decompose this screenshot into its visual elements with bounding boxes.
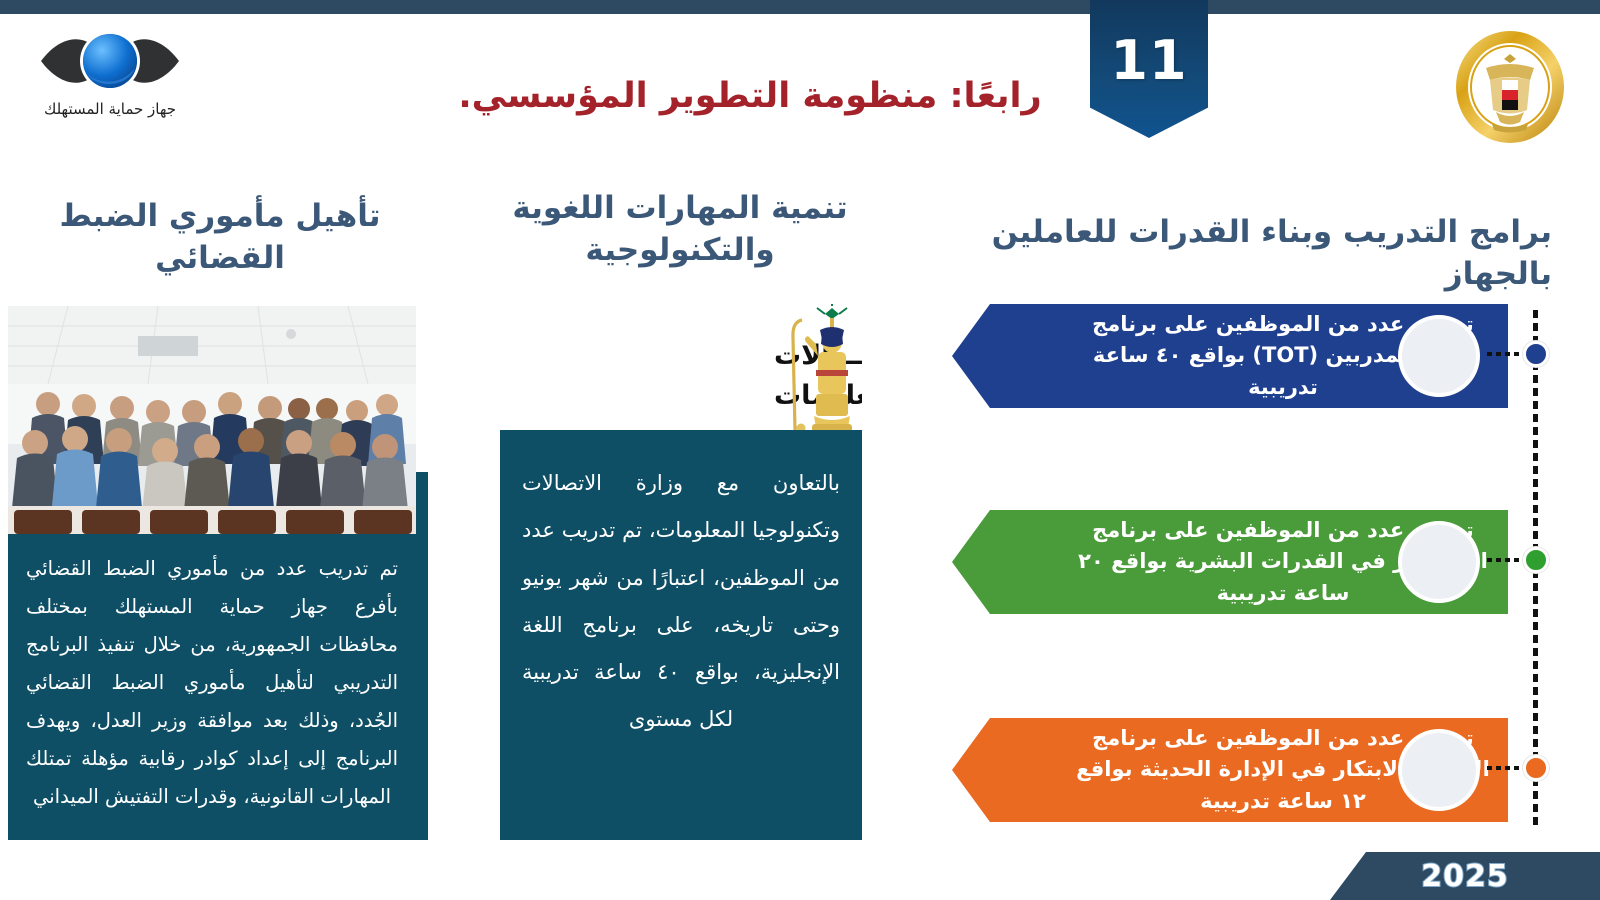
training-item-3-circle <box>1398 729 1480 811</box>
training-group-photo <box>8 306 416 534</box>
left-accent-bar <box>416 472 428 840</box>
timeline-connector-1 <box>1487 352 1523 356</box>
left-body-text: تم تدريب عدد من مأموري الضبط القضائي بأف… <box>26 550 398 816</box>
footer-year-text: 2025 <box>1421 859 1509 894</box>
left-text-panel: تم تدريب عدد من مأموري الضبط القضائي بأف… <box>8 534 416 840</box>
left-column-heading: تأهيل مأموري الضبط القضائي <box>10 196 430 280</box>
training-item-1-circle <box>1398 315 1480 397</box>
training-item-3[interactable]: تدريب عدد من الموظفين على برنامج الإبداع… <box>952 718 1508 822</box>
slide-canvas: 11 جهاز حماية المستهلك <box>0 0 1600 900</box>
eye-logo-icon <box>35 28 185 94</box>
timeline-connector-2 <box>1487 558 1523 562</box>
egypt-cabinet-seal-icon <box>1452 28 1568 146</box>
middle-column-heading: تنمية المهارات اللغوية والتكنولوجية <box>490 188 870 272</box>
training-item-2-circle <box>1398 521 1480 603</box>
timeline-connector-3 <box>1487 766 1523 770</box>
middle-body-text: بالتعاون مع وزارة الاتصالات وتكنولوجيا ا… <box>522 460 840 744</box>
training-item-2[interactable]: تدريب عدد من الموظفين على برنامج الاستثم… <box>952 510 1508 614</box>
agency-logo: جهاز حماية المستهلك <box>20 28 200 138</box>
timeline-node-1[interactable] <box>1523 341 1549 367</box>
agency-name: جهاز حماية المستهلك <box>44 100 176 118</box>
right-column-heading: برامج التدريب وبناء القدرات للعاملين بال… <box>930 212 1560 296</box>
page-number: 11 <box>1110 34 1187 88</box>
mcit-ministry-logo-icon: وزارة الاتصــــالات وتكنولوجيا المعلومات <box>512 302 862 434</box>
timeline-node-3[interactable] <box>1523 755 1549 781</box>
page-title: رابعًا: منظومة التطوير المؤسسي. <box>440 76 1060 116</box>
footer-year-banner: 2025 <box>1330 852 1600 900</box>
training-item-1[interactable]: تدريب عدد من الموظفين على برنامج إعداد ا… <box>952 304 1508 408</box>
timeline-node-2[interactable] <box>1523 547 1549 573</box>
page-number-ribbon: 11 <box>1090 0 1208 138</box>
middle-text-panel: بالتعاون مع وزارة الاتصالات وتكنولوجيا ا… <box>500 430 862 840</box>
